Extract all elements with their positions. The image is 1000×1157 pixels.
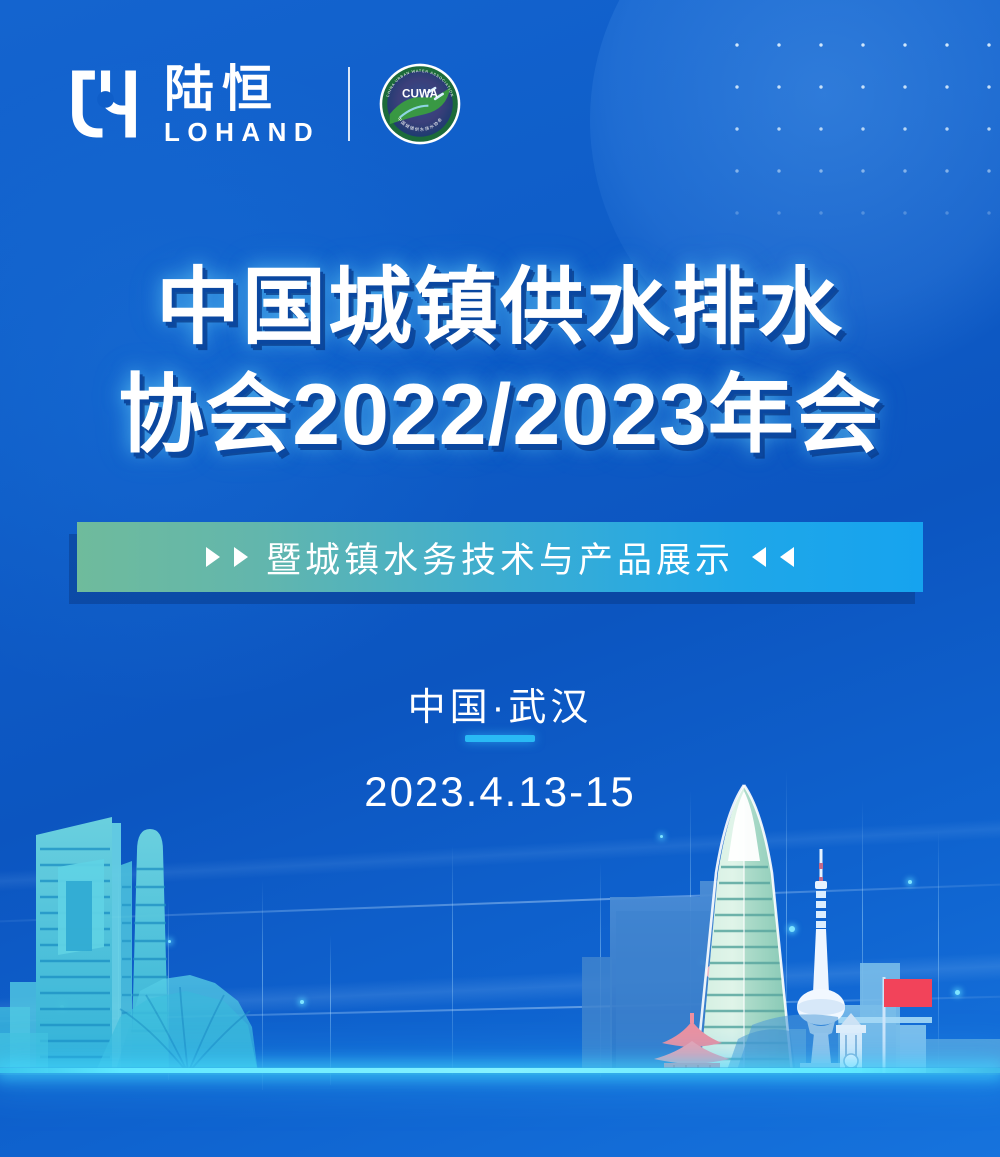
vertical-light-line bbox=[330, 935, 331, 1085]
vertical-light-line bbox=[262, 880, 263, 1090]
left-arrow-markers bbox=[206, 547, 248, 567]
spark-dot bbox=[955, 990, 960, 995]
lohand-wordmark: 陆恒 LOHAND bbox=[164, 64, 320, 145]
dot-grid-pattern bbox=[710, 18, 1000, 253]
spark-dot bbox=[300, 1000, 304, 1004]
detail-divider bbox=[465, 735, 535, 742]
vertical-light-line bbox=[118, 860, 119, 1060]
title-line-2: 协会2022/2023年会 bbox=[0, 365, 1000, 466]
subtitle-text: 暨城镇水务技术与产品展示 bbox=[266, 532, 734, 583]
flag-marker bbox=[884, 977, 932, 1073]
triangle-right-icon bbox=[234, 547, 248, 567]
event-location: 中国·武汉 bbox=[0, 676, 1000, 731]
light-streak-2 bbox=[0, 880, 1000, 926]
office-tower-block bbox=[582, 881, 720, 1073]
wuhan-greenland-center-tower bbox=[696, 785, 792, 1073]
right-block-group bbox=[760, 963, 1000, 1073]
spark-dot bbox=[660, 835, 663, 838]
spark-dot bbox=[168, 940, 171, 943]
city-skyline-illustration bbox=[0, 777, 1000, 1157]
light-streak-3 bbox=[0, 948, 1000, 1030]
light-streak-4 bbox=[0, 993, 1000, 1024]
logo-divider bbox=[348, 67, 350, 141]
spark-dot bbox=[720, 905, 724, 909]
vertical-light-line bbox=[168, 900, 169, 1080]
yellow-crane-tower-pavilion bbox=[654, 1013, 730, 1073]
spark-dot bbox=[700, 960, 705, 965]
vertical-light-line bbox=[600, 862, 601, 1077]
brand-name-en: LOHAND bbox=[164, 119, 320, 145]
light-streak-1 bbox=[0, 814, 1000, 897]
vertical-light-line bbox=[452, 845, 453, 1075]
triangle-right-icon bbox=[206, 547, 220, 567]
clock-tower bbox=[836, 1013, 866, 1073]
brand-name-cn: 陆恒 bbox=[164, 64, 320, 114]
spark-dot bbox=[789, 926, 795, 932]
triangle-left-icon bbox=[780, 547, 794, 567]
wuhan-tv-tower bbox=[726, 849, 846, 1073]
right-arrow-markers bbox=[752, 547, 794, 567]
subtitle-ribbon: 暨城镇水务技术与产品展示 bbox=[77, 522, 923, 592]
fan-shaped-plaza bbox=[95, 975, 258, 1073]
title-line-1: 中国城镇供水排水 bbox=[0, 258, 1000, 357]
spark-dot bbox=[908, 880, 912, 884]
tower-light-dot bbox=[706, 965, 720, 979]
cuwa-abbreviation: CUWA bbox=[402, 87, 438, 100]
spark-dot bbox=[872, 1010, 876, 1014]
event-date: 2023.4.13-15 bbox=[0, 768, 1000, 816]
triangle-left-icon bbox=[752, 547, 766, 567]
ribbon-body: 暨城镇水务技术与产品展示 bbox=[77, 522, 923, 592]
conference-poster: 陆恒 LOHAND CUWA CHINA URBAN WATE bbox=[0, 0, 1000, 1157]
left-city-buildings bbox=[0, 817, 169, 1073]
lohand-logo-icon bbox=[66, 66, 142, 142]
horizon-glow-line bbox=[0, 1068, 1000, 1073]
poster-title: 中国城镇供水排水 协会2022/2023年会 bbox=[0, 258, 1000, 467]
header-logo-row: 陆恒 LOHAND CUWA CHINA URBAN WATE bbox=[66, 62, 462, 146]
vertical-light-line bbox=[862, 800, 863, 1065]
spark-dot bbox=[60, 1005, 64, 1009]
cuwa-logo-icon: CUWA CHINA URBAN WATER ASSOCIATION 中国城镇供… bbox=[378, 62, 462, 146]
vertical-light-line bbox=[938, 830, 939, 1070]
vertical-light-line bbox=[690, 790, 691, 1070]
